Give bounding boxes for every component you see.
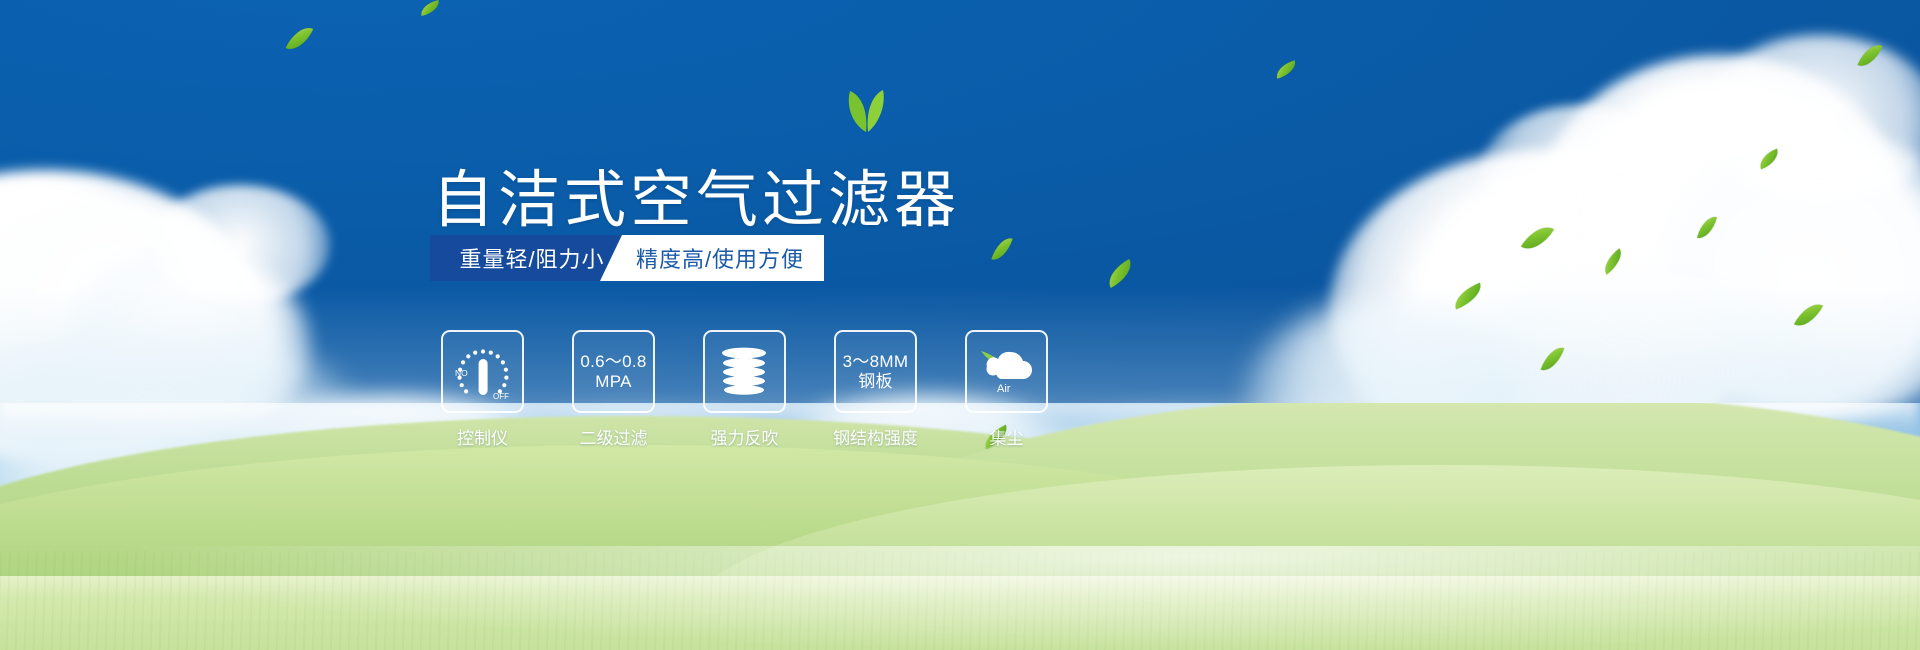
feature-item-controller[interactable]: NO OFF 控制仪 bbox=[440, 330, 525, 449]
feature-item-dust-collection[interactable]: Air 集尘 bbox=[964, 330, 1049, 449]
product-hero-banner: 自洁式空气过滤器 重量轻/阻力小 精度高/使用方便 bbox=[0, 0, 1920, 650]
feature-caption: 控制仪 bbox=[457, 424, 508, 449]
gauge-label-no: NO bbox=[455, 368, 468, 378]
feature-caption: 集尘 bbox=[990, 424, 1024, 449]
sprout-icon bbox=[836, 88, 896, 132]
gauge-icon: NO OFF bbox=[450, 339, 516, 405]
gauge-label-off: OFF bbox=[493, 392, 509, 401]
filter-element-icon bbox=[714, 341, 776, 403]
feature-icon-box: Air bbox=[965, 330, 1048, 413]
feature-tag-bar: 重量轻/阻力小 精度高/使用方便 bbox=[430, 235, 824, 281]
air-cloud-icon: Air bbox=[974, 339, 1040, 405]
pressure-value-text: 0.6～0.8 MPA bbox=[580, 352, 646, 390]
tag-high-precision-easy-use: 精度高/使用方便 bbox=[600, 235, 824, 281]
feature-caption: 二级过滤 bbox=[580, 424, 648, 449]
feature-icon-box: NO OFF bbox=[441, 330, 524, 413]
feature-item-two-stage-filter[interactable]: 0.6～0.8 MPA 二级过滤 bbox=[571, 330, 656, 449]
feature-item-strong-blowback[interactable]: 强力反吹 bbox=[702, 330, 787, 449]
feature-item-steel-strength[interactable]: 3～8MM 钢板 钢结构强度 bbox=[833, 330, 918, 449]
feature-icon-box: 0.6～0.8 MPA bbox=[572, 330, 655, 413]
tag-lightweight-low-resistance: 重量轻/阻力小 bbox=[430, 235, 622, 281]
feature-caption: 强力反吹 bbox=[711, 424, 779, 449]
feature-icon-row: NO OFF 控制仪 0.6～0.8 MPA 二级过滤 bbox=[440, 330, 1049, 449]
banner-content: 自洁式空气过滤器 重量轻/阻力小 精度高/使用方便 bbox=[0, 0, 1920, 650]
feature-icon-box bbox=[703, 330, 786, 413]
steel-plate-text: 3～8MM 钢板 bbox=[843, 352, 909, 390]
air-label: Air bbox=[997, 383, 1011, 395]
page-title: 自洁式空气过滤器 bbox=[432, 170, 960, 232]
feature-icon-box: 3～8MM 钢板 bbox=[834, 330, 917, 413]
feature-caption: 钢结构强度 bbox=[833, 424, 918, 449]
